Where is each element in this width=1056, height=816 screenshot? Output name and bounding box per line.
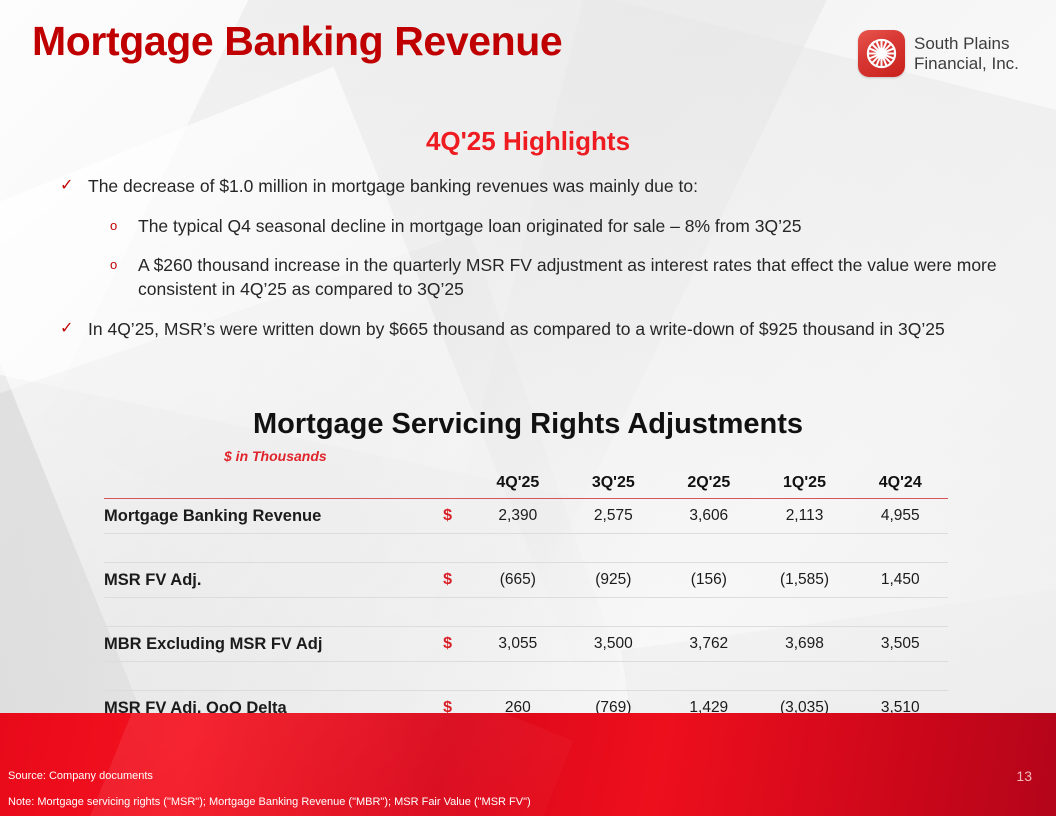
- circle-bullet-icon: o: [110, 215, 138, 237]
- cell-value: 4,955: [853, 499, 949, 534]
- table-row: MSR FV Adj. $ (665) (925) (156) (1,585) …: [104, 563, 948, 598]
- table-row: Mortgage Banking Revenue $ 2,390 2,575 3…: [104, 499, 948, 534]
- column-header-3q25: 3Q'25: [566, 468, 661, 498]
- company-name-line1: South Plains: [914, 34, 1019, 53]
- footer-source: Source: Company documents: [8, 770, 153, 782]
- slide-title: Mortgage Banking Revenue: [32, 18, 562, 65]
- company-name: South Plains Financial, Inc.: [914, 34, 1019, 72]
- column-header-currency: [425, 468, 470, 498]
- list-item-text: A $260 thousand increase in the quarterl…: [138, 254, 1008, 301]
- cell-value: (1,585): [757, 563, 853, 598]
- list-item: ✓ In 4Q’25, MSR’s were written down by $…: [60, 318, 1008, 342]
- cell-value: 3,606: [661, 499, 756, 534]
- list-item-text: In 4Q’25, MSR’s were written down by $66…: [88, 318, 1008, 342]
- check-icon: ✓: [60, 318, 88, 341]
- page-number: 13: [1016, 768, 1032, 784]
- table-row: MBR Excluding MSR FV Adj $ 3,055 3,500 3…: [104, 627, 948, 662]
- check-icon: ✓: [60, 175, 88, 198]
- list-item: ✓ The decrease of $1.0 million in mortga…: [60, 175, 1008, 199]
- list-item-text: The decrease of $1.0 million in mortgage…: [88, 175, 1008, 199]
- column-header-4q24: 4Q'24: [853, 468, 949, 498]
- cell-value: 3,698: [757, 627, 853, 662]
- cell-value: 3,055: [470, 627, 565, 662]
- cell-value: 1,450: [853, 563, 949, 598]
- cell-value: 2,113: [757, 499, 853, 534]
- row-label: MSR FV Adj.: [104, 563, 425, 598]
- sunburst-wheel-icon: [858, 30, 905, 77]
- cell-value: 2,390: [470, 499, 565, 534]
- slide: Mortgage Banking Revenue: [0, 0, 1056, 816]
- circle-bullet-icon: o: [110, 254, 138, 276]
- company-name-line2: Financial, Inc.: [914, 54, 1019, 73]
- column-header-2q25: 2Q'25: [661, 468, 756, 498]
- row-label: MBR Excluding MSR FV Adj: [104, 627, 425, 662]
- table-units-label: $ in Thousands: [224, 448, 327, 464]
- slide-footer: Source: Company documents Note: Mortgage…: [0, 713, 1056, 816]
- row-label: Mortgage Banking Revenue: [104, 499, 425, 534]
- column-header-1q25: 1Q'25: [757, 468, 853, 498]
- column-header-label: [104, 468, 425, 498]
- cell-value: 2,575: [566, 499, 661, 534]
- list-item: o A $260 thousand increase in the quarte…: [110, 254, 1008, 301]
- cell-value: 3,505: [853, 627, 949, 662]
- company-logo: South Plains Financial, Inc.: [858, 30, 1019, 77]
- financial-table: 4Q'25 3Q'25 2Q'25 1Q'25 4Q'24 Mortgage B…: [104, 468, 948, 726]
- section-subtitle: 4Q'25 Highlights: [0, 126, 1056, 157]
- table-title: Mortgage Servicing Rights Adjustments: [0, 408, 1056, 441]
- list-item-text: The typical Q4 seasonal decline in mortg…: [138, 215, 1008, 239]
- cell-value: (925): [566, 563, 661, 598]
- table-header-row: 4Q'25 3Q'25 2Q'25 1Q'25 4Q'24: [104, 468, 948, 498]
- cell-value: (156): [661, 563, 756, 598]
- table-spacer-row: [104, 662, 948, 691]
- highlights-list: ✓ The decrease of $1.0 million in mortga…: [60, 175, 1008, 357]
- list-item: o The typical Q4 seasonal decline in mor…: [110, 215, 1008, 239]
- currency-symbol: $: [425, 499, 470, 534]
- cell-value: 3,762: [661, 627, 756, 662]
- column-header-4q25: 4Q'25: [470, 468, 565, 498]
- table-spacer-row: [104, 534, 948, 563]
- cell-value: (665): [470, 563, 565, 598]
- cell-value: 3,500: [566, 627, 661, 662]
- table-spacer-row: [104, 598, 948, 627]
- currency-symbol: $: [425, 563, 470, 598]
- currency-symbol: $: [425, 627, 470, 662]
- footer-note: Note: Mortgage servicing rights ("MSR");…: [8, 796, 531, 808]
